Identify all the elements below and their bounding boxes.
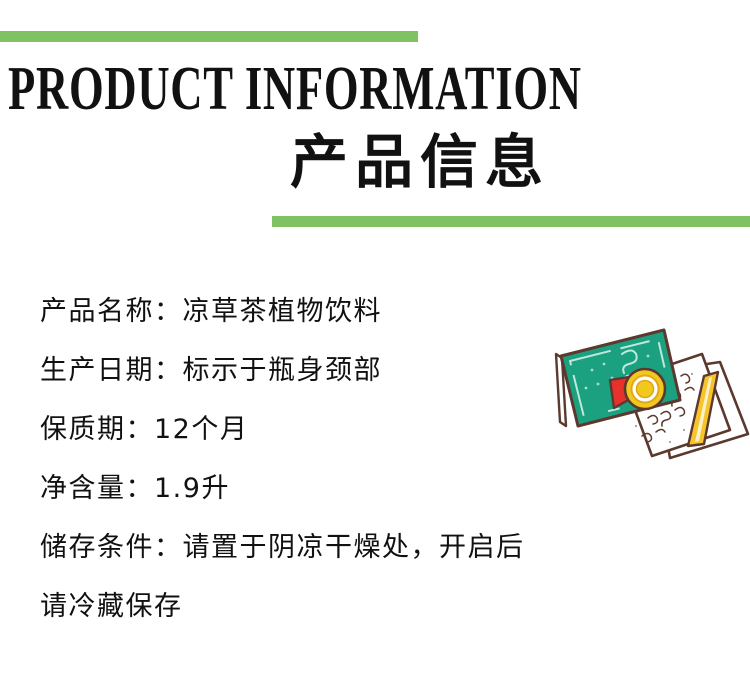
gold-seal-medal bbox=[625, 369, 665, 409]
page-title-chinese: 产品信息 bbox=[0, 126, 750, 198]
page-title-english: PRODUCT INFORMATION bbox=[8, 58, 512, 120]
top-green-rule bbox=[0, 31, 418, 42]
header-banner: PRODUCT INFORMATION 产品信息 bbox=[0, 0, 750, 230]
spec-line-storage-condition: 储存条件：请置于阴凉干燥处，开启后 bbox=[40, 518, 680, 577]
certificate-illustration bbox=[552, 326, 750, 466]
spec-line-storage-continued: 请冷藏保存 bbox=[40, 577, 680, 636]
bottom-green-rule bbox=[272, 216, 750, 227]
spec-line-net-content: 净含量：1.9升 bbox=[40, 459, 680, 518]
